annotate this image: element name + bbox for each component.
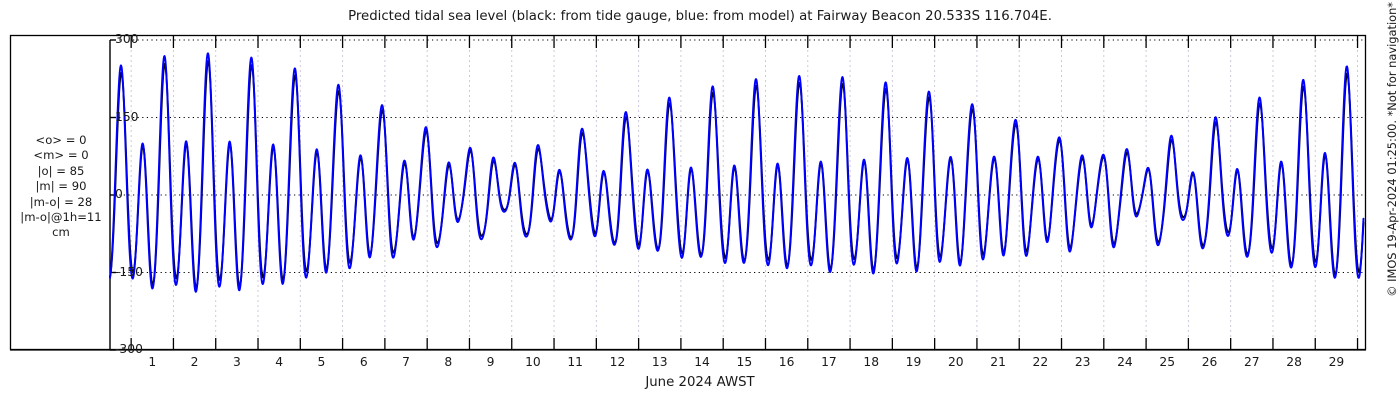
stat-abs-diff: |m-o| = 28 bbox=[12, 195, 110, 210]
x-axis-title: June 2024 AWST bbox=[0, 375, 1400, 390]
x-tick-label-day-8: 8 bbox=[433, 355, 463, 369]
x-tick-label-day-14: 14 bbox=[687, 355, 717, 369]
y-tick-label: 150 bbox=[115, 110, 138, 124]
x-tick-label-day-19: 19 bbox=[899, 355, 929, 369]
y-tick-label: 300 bbox=[115, 32, 138, 46]
copyright-text: © IMOS 19-Apr-2024 01:25:00. *Not for na… bbox=[1385, 2, 1399, 398]
x-tick-label-day-17: 17 bbox=[814, 355, 844, 369]
stat-mean-model: <m> = 0 bbox=[12, 148, 110, 163]
tide-series-model bbox=[110, 53, 1363, 291]
x-tick-label-day-1: 1 bbox=[137, 355, 167, 369]
x-tick-label-day-3: 3 bbox=[222, 355, 252, 369]
x-tick-label-day-22: 22 bbox=[1025, 355, 1055, 369]
x-tick-label-day-25: 25 bbox=[1152, 355, 1182, 369]
statistics-block: <o> = 0 <m> = 0 |o| = 85 |m| = 90 |m-o| … bbox=[12, 133, 110, 241]
stat-abs-obs: |o| = 85 bbox=[12, 164, 110, 179]
x-tick-label-day-18: 18 bbox=[856, 355, 886, 369]
stat-units: cm bbox=[12, 225, 110, 240]
axis-tick-marks bbox=[131, 36, 1357, 350]
x-tick-label-day-15: 15 bbox=[729, 355, 759, 369]
x-tick-label-day-24: 24 bbox=[1110, 355, 1140, 369]
x-tick-label-day-28: 28 bbox=[1279, 355, 1309, 369]
x-tick-label-day-21: 21 bbox=[983, 355, 1013, 369]
x-tick-label-day-16: 16 bbox=[772, 355, 802, 369]
y-tick-label: -300 bbox=[115, 342, 143, 356]
x-tick-label-day-12: 12 bbox=[602, 355, 632, 369]
copyright-notice: © IMOS 19-Apr-2024 01:25:00. *Not for na… bbox=[1381, 0, 1400, 400]
y-tick-label: -150 bbox=[115, 265, 143, 279]
x-tick-label-day-13: 13 bbox=[645, 355, 675, 369]
x-tick-label-day-26: 26 bbox=[1195, 355, 1225, 369]
stat-abs-model: |m| = 90 bbox=[12, 179, 110, 194]
tide-chart-canvas bbox=[0, 0, 1400, 400]
x-tick-label-day-5: 5 bbox=[306, 355, 336, 369]
x-tick-label-day-9: 9 bbox=[476, 355, 506, 369]
x-tick-label-day-11: 11 bbox=[560, 355, 590, 369]
x-tick-label-day-23: 23 bbox=[1068, 355, 1098, 369]
x-tick-label-day-6: 6 bbox=[349, 355, 379, 369]
x-tick-label-day-4: 4 bbox=[264, 355, 294, 369]
stat-abs-diff-1h: |m-o|@1h=11 bbox=[12, 210, 110, 225]
x-tick-label-day-20: 20 bbox=[941, 355, 971, 369]
y-tick-label: 0 bbox=[115, 187, 123, 201]
x-tick-label-day-2: 2 bbox=[180, 355, 210, 369]
stat-mean-obs: <o> = 0 bbox=[12, 133, 110, 148]
tide-plot-page: Predicted tidal sea level (black: from t… bbox=[0, 0, 1400, 400]
x-tick-label-day-27: 27 bbox=[1237, 355, 1267, 369]
tide-series-group bbox=[110, 53, 1363, 291]
x-tick-label-day-10: 10 bbox=[518, 355, 548, 369]
x-tick-label-day-29: 29 bbox=[1321, 355, 1351, 369]
x-tick-label-day-7: 7 bbox=[391, 355, 421, 369]
